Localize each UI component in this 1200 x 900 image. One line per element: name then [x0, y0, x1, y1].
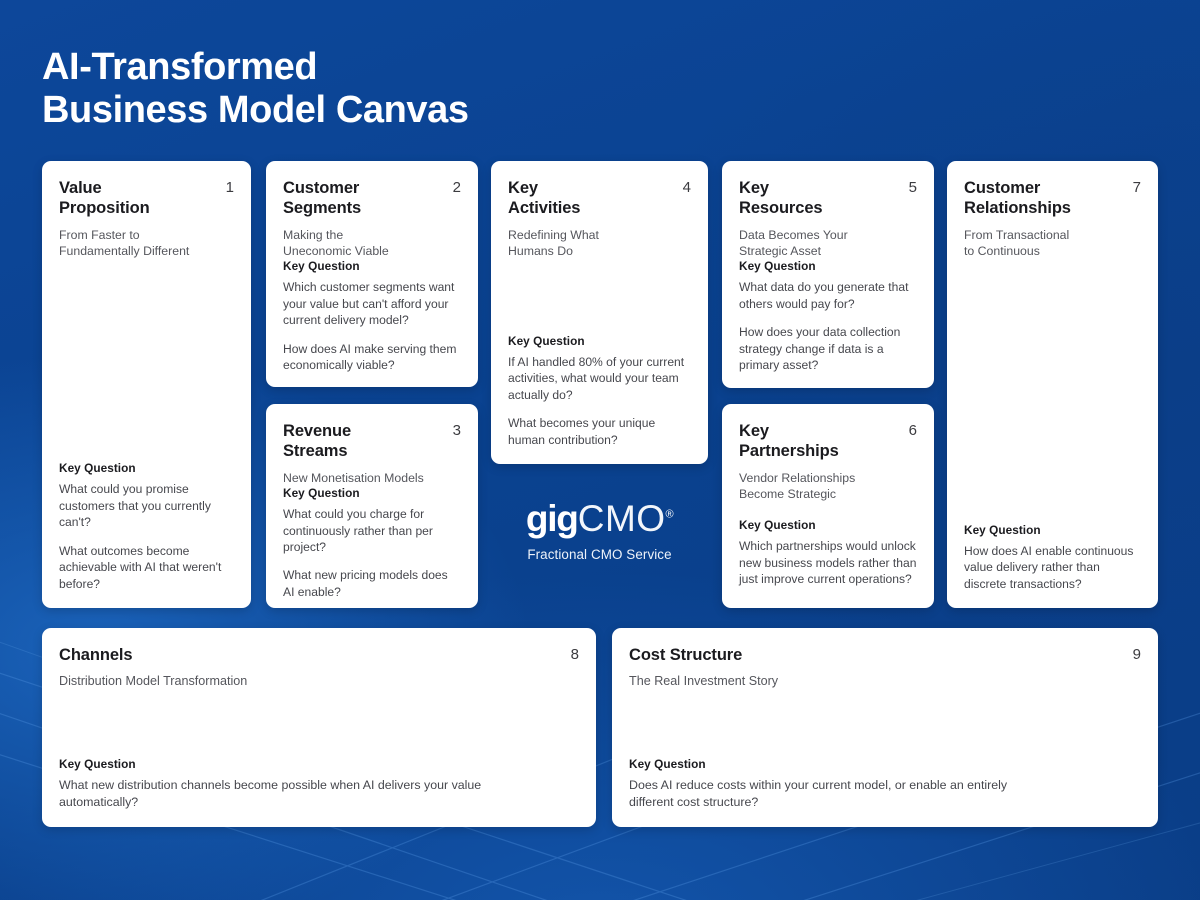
key-question-text: What could you promise customers that yo…: [59, 481, 234, 530]
key-question-text: How does your data collection strategy c…: [739, 324, 917, 373]
key-question-label: Key Question: [59, 461, 234, 475]
card-title: Customer Relationships: [964, 179, 1071, 219]
key-question-label: Key Question: [629, 757, 1141, 771]
card-number: 4: [683, 179, 691, 197]
card-header: Key Activities 4: [508, 179, 691, 219]
card-spacer: [59, 259, 234, 461]
card-title: Key Resources: [739, 179, 822, 219]
key-question-text: What could you charge for continuously r…: [283, 506, 461, 555]
card-value-proposition[interactable]: Value Proposition 1 From Faster to Funda…: [42, 161, 251, 608]
card-title: Revenue Streams: [283, 422, 351, 462]
card-subtitle: Data Becomes Your Strategic Asset: [739, 227, 917, 259]
card-title: Key Partnerships: [739, 422, 839, 462]
card-cost-structure[interactable]: Cost Structure 9 The Real Investment Sto…: [612, 628, 1158, 827]
key-question-text: Which partnerships would unlock new busi…: [739, 538, 917, 587]
card-number: 7: [1133, 179, 1141, 197]
card-header: Key Resources 5: [739, 179, 917, 219]
card-header: Customer Relationships 7: [964, 179, 1141, 219]
card-spacer: [59, 690, 579, 758]
card-header: Value Proposition 1: [59, 179, 234, 219]
card-spacer: [508, 259, 691, 333]
card-subtitle: Distribution Model Transformation: [59, 673, 579, 690]
key-question-text: What outcomes become achievable with AI …: [59, 543, 234, 592]
key-question-label: Key Question: [508, 334, 691, 348]
card-subtitle: Redefining What Humans Do: [508, 227, 691, 259]
registered-trademark-icon: ®: [666, 509, 674, 521]
card-customer-relationships[interactable]: Customer Relationships 7 From Transactio…: [947, 161, 1158, 608]
card-spacer: [629, 690, 1141, 758]
card-subtitle: New Monetisation Models: [283, 470, 461, 486]
key-question-text: What new pricing models does AI enable?: [283, 567, 461, 600]
page-title: AI-Transformed Business Model Canvas: [42, 46, 469, 133]
card-spacer: [964, 259, 1141, 522]
card-title: Cost Structure: [629, 646, 742, 666]
key-question-label: Key Question: [964, 523, 1141, 537]
card-subtitle: The Real Investment Story: [629, 673, 1141, 690]
logo-cmo-text: CMO: [578, 498, 666, 539]
key-question-text: What becomes your unique human contribut…: [508, 415, 691, 448]
logo-wordmark: gigCMO®: [491, 500, 708, 537]
key-question-text: What new distribution channels become po…: [59, 777, 489, 811]
card-number: 6: [909, 422, 917, 440]
card-header: Channels 8: [59, 646, 579, 666]
logo-tagline: Fractional CMO Service: [491, 547, 708, 562]
card-number: 3: [453, 422, 461, 440]
card-number: 9: [1133, 646, 1141, 664]
card-subtitle: Making the Uneconomic Viable: [283, 227, 461, 259]
card-header: Key Partnerships 6: [739, 422, 917, 462]
card-header: Cost Structure 9: [629, 646, 1141, 666]
card-subtitle: From Transactional to Continuous: [964, 227, 1141, 259]
card-number: 5: [909, 179, 917, 197]
key-question-label: Key Question: [283, 486, 461, 500]
card-header: Revenue Streams 3: [283, 422, 461, 462]
card-revenue-streams[interactable]: Revenue Streams 3 New Monetisation Model…: [266, 404, 478, 608]
card-title: Channels: [59, 646, 132, 666]
card-number: 1: [226, 179, 234, 197]
key-question-label: Key Question: [739, 259, 917, 273]
card-subtitle: From Faster to Fundamentally Different: [59, 227, 234, 259]
key-question-label: Key Question: [59, 757, 579, 771]
card-key-resources[interactable]: Key Resources 5 Data Becomes Your Strate…: [722, 161, 934, 388]
logo-gig-text: gig: [526, 498, 578, 539]
card-title: Customer Segments: [283, 179, 361, 219]
card-title: Value Proposition: [59, 179, 150, 219]
card-key-activities[interactable]: Key Activities 4 Redefining What Humans …: [491, 161, 708, 464]
card-header: Customer Segments 2: [283, 179, 461, 219]
gigcmo-logo: gigCMO® Fractional CMO Service: [491, 500, 708, 562]
card-key-partnerships[interactable]: Key Partnerships 6 Vendor Relationships …: [722, 404, 934, 608]
key-question-text: Does AI reduce costs within your current…: [629, 777, 1019, 811]
card-number: 2: [453, 179, 461, 197]
key-question-text: Which customer segments want your value …: [283, 279, 461, 328]
card-title: Key Activities: [508, 179, 580, 219]
card-spacer: [739, 502, 917, 518]
key-question-text: If AI handled 80% of your current activi…: [508, 354, 691, 403]
card-channels[interactable]: Channels 8 Distribution Model Transforma…: [42, 628, 596, 827]
card-number: 8: [571, 646, 579, 664]
canvas-background: AI-Transformed Business Model Canvas Val…: [0, 0, 1200, 900]
card-subtitle: Vendor Relationships Become Strategic: [739, 470, 917, 502]
card-customer-segments[interactable]: Customer Segments 2 Making the Uneconomi…: [266, 161, 478, 387]
key-question-label: Key Question: [283, 259, 461, 273]
key-question-label: Key Question: [739, 518, 917, 532]
key-question-text: How does AI enable continuous value deli…: [964, 543, 1141, 592]
key-question-text: What data do you generate that others wo…: [739, 279, 917, 312]
key-question-text: How does AI make serving them economical…: [283, 341, 461, 374]
